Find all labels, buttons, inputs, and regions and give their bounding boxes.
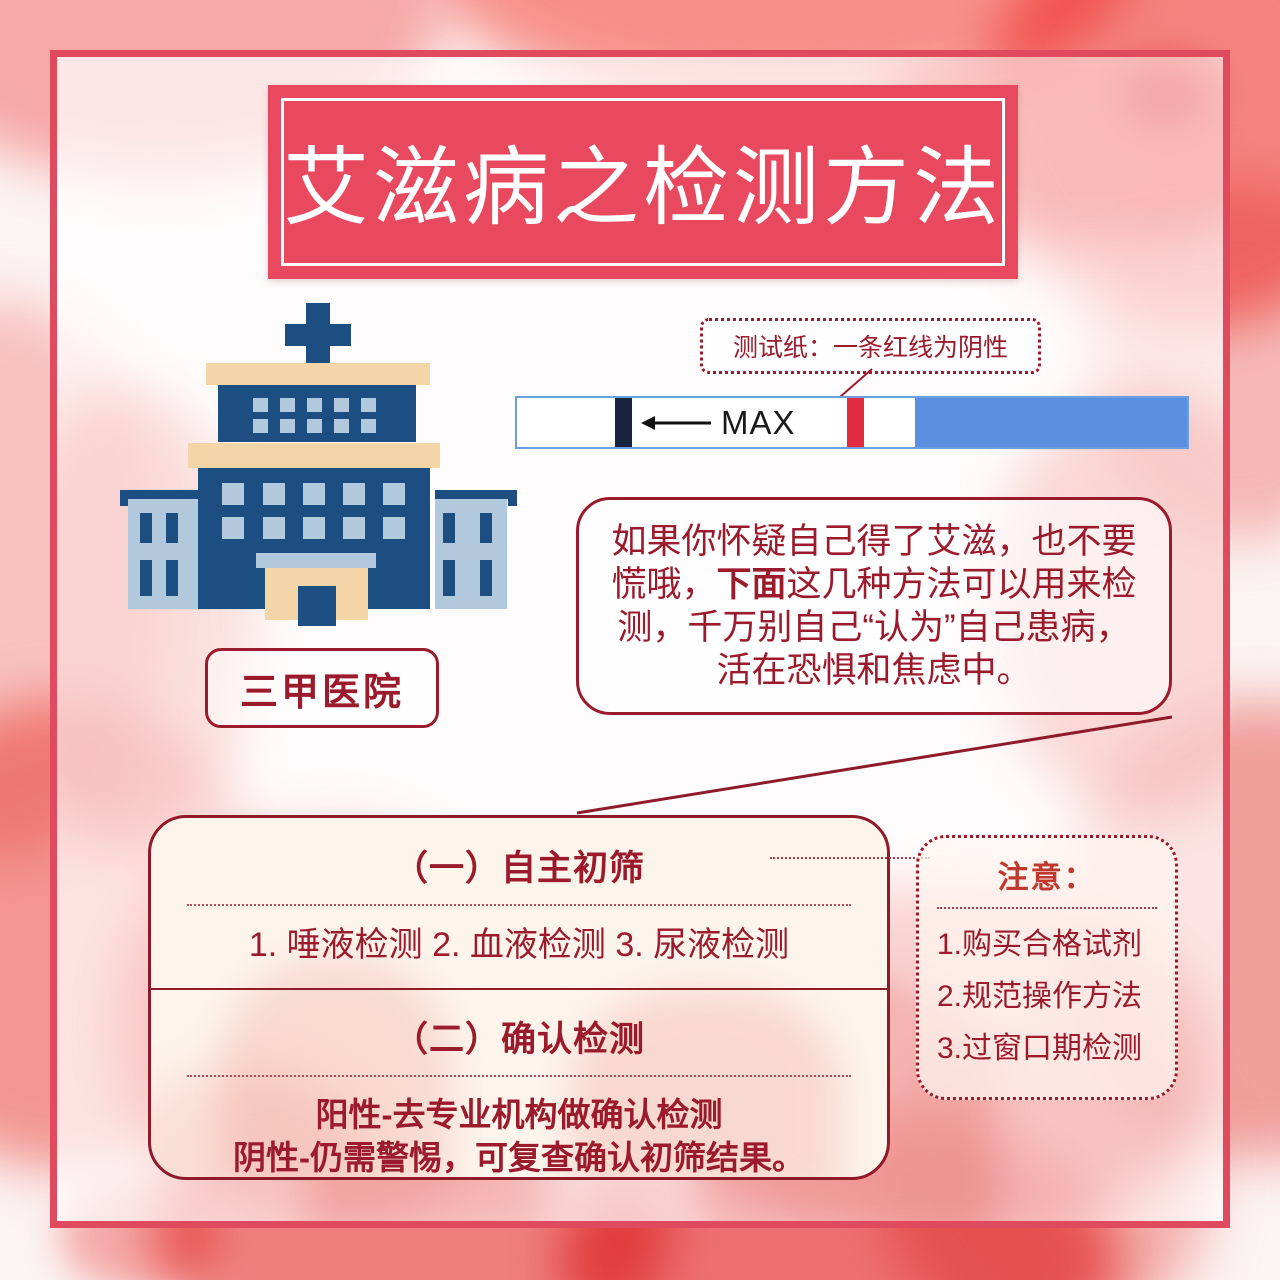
section-2-line-1: 阳性-去专业机构做确认检测 [151, 1093, 887, 1136]
callout-leader-line [838, 368, 874, 398]
bubble-connector-tail [470, 700, 1190, 830]
left-arrow-icon [641, 411, 713, 435]
strip-handle [915, 398, 1187, 447]
section-2-line-2: 阴性-仍需警惕，可复查确认初筛结果。 [151, 1136, 887, 1179]
advice-speech-bubble: 如果你怀疑自己得了艾滋，也不要慌哦，下面这几种方法可以用来检测，千万别自己“认为… [576, 497, 1172, 715]
hospital-building-icon [110, 285, 530, 635]
notice-box: 注意： 1.购买合格试剂 2.规范操作方法 3.过窗口期检测 [916, 835, 1178, 1100]
notice-item: 2.规范操作方法 [937, 971, 1175, 1023]
title-banner: 艾滋病之检测方法 [268, 85, 1018, 279]
hiv-test-strip: MAX [515, 396, 1189, 449]
medical-cross-icon [285, 303, 351, 365]
test-strip-callout: 测试纸：一条红线为阴性 [700, 318, 1041, 374]
advice-text: 如果你怀疑自己得了艾滋，也不要慌哦，下面这几种方法可以用来检测，千万别自己“认为… [579, 520, 1169, 692]
section-1-body: 1. 唾液检测 2. 血液检测 3. 尿液检测 [151, 906, 887, 966]
test-strip-callout-text: 测试纸：一条红线为阴性 [733, 328, 1008, 364]
page-title: 艾滋病之检测方法 [268, 85, 1018, 279]
max-annotation: MAX [641, 398, 796, 447]
section-1-heading: （一）自主初筛 [151, 818, 887, 891]
negative-result-line [847, 398, 864, 447]
methods-panel: （一）自主初筛 1. 唾液检测 2. 血液检测 3. 尿液检测 （二）确认检测 … [148, 815, 890, 1180]
notice-list: 1.购买合格试剂 2.规范操作方法 3.过窗口期检测 [919, 909, 1175, 1075]
section-2-heading: （二）确认检测 [151, 990, 887, 1062]
section-2-body: 阳性-去专业机构做确认检测 阴性-仍需警惕，可复查确认初筛结果。 [151, 1077, 887, 1179]
hospital-tier-label: 三甲医院 [205, 648, 439, 728]
infographic-canvas: 艾滋病之检测方法 [0, 0, 1280, 1280]
methods-content: （一）自主初筛 1. 唾液检测 2. 血液检测 3. 尿液检测 （二）确认检测 … [151, 818, 887, 1179]
advice-text-bold: 下面 [716, 565, 786, 604]
notice-item: 3.过窗口期检测 [937, 1023, 1175, 1075]
max-label: MAX [721, 404, 796, 442]
notice-heading: 注意： [919, 838, 1175, 897]
max-fill-line [615, 398, 632, 447]
hospital-tier-text: 三甲医院 [240, 661, 404, 716]
notice-item: 1.购买合格试剂 [937, 919, 1175, 971]
